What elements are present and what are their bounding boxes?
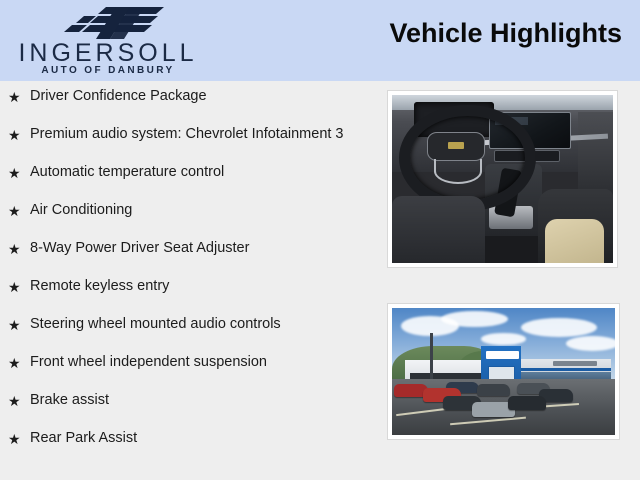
star-bullet-icon: ★ [8,314,30,336]
brand-tagline: AUTO OF DANBURY [8,65,208,77]
highlight-label: Steering wheel mounted audio controls [30,314,372,335]
chevrolet-logo-sign [486,351,519,359]
highlight-item: ★Automatic temperature control [0,162,372,184]
steering-wheel-hub [427,132,484,161]
light-pole [430,333,433,384]
star-bullet-icon: ★ [8,86,30,108]
highlight-item: ★Steering wheel mounted audio controls [0,314,372,336]
star-bullet-icon: ★ [8,162,30,184]
highlight-item: ★Driver Confidence Package [0,86,372,108]
passenger-door-panel [578,112,613,196]
star-bullet-icon: ★ [8,352,30,374]
page-header: INGERSOLL AUTO OF DANBURY Vehicle Highli… [0,0,640,81]
highlight-label: Air Conditioning [30,200,372,221]
star-bullet-icon: ★ [8,276,30,298]
parked-car [508,396,546,410]
highlight-label: Remote keyless entry [30,276,372,297]
star-bullet-icon: ★ [8,200,30,222]
parked-car [477,384,510,395]
page-title: Vehicle Highlights [389,18,622,49]
vehicle-interior-photo[interactable] [387,90,618,268]
highlight-item: ★8-Way Power Driver Seat Adjuster [0,238,372,260]
cloud [566,336,615,351]
dealer-brand-block[interactable]: INGERSOLL AUTO OF DANBURY [8,2,208,80]
highlight-label: Rear Park Assist [30,428,372,449]
cloud [441,311,508,328]
dealership-exterior-photo[interactable] [387,303,620,440]
star-bullet-icon: ★ [8,390,30,412]
highlight-label: Automatic temperature control [30,162,372,183]
highlight-item: ★Remote keyless entry [0,276,372,298]
driver-seat [392,196,485,263]
highlight-item: ★Rear Park Assist [0,428,372,450]
highlight-label: 8-Way Power Driver Seat Adjuster [30,238,372,259]
vehicle-interior-image [392,95,613,263]
ingersoll-wall-sign [553,361,598,366]
highlight-item: ★Premium audio system: Chevrolet Infotai… [0,124,372,146]
highlight-label: Brake assist [30,390,372,411]
highlight-item: ★Brake assist [0,390,372,412]
star-bullet-icon: ★ [8,428,30,450]
highlight-label: Driver Confidence Package [30,86,372,107]
vehicle-highlights-list: ★Driver Confidence Package★Premium audio… [0,86,372,466]
tan-cushion [545,219,605,263]
brand-name: INGERSOLL [8,40,208,66]
cloud [481,333,526,344]
dealership-exterior-image [392,308,615,435]
ingersoll-wing-logo-icon [60,5,170,41]
highlight-label: Premium audio system: Chevrolet Infotain… [30,124,372,145]
highlight-label: Front wheel independent suspension [30,352,372,373]
highlight-item: ★Front wheel independent suspension [0,352,372,374]
highlight-item: ★Air Conditioning [0,200,372,222]
star-bullet-icon: ★ [8,124,30,146]
star-bullet-icon: ★ [8,238,30,260]
